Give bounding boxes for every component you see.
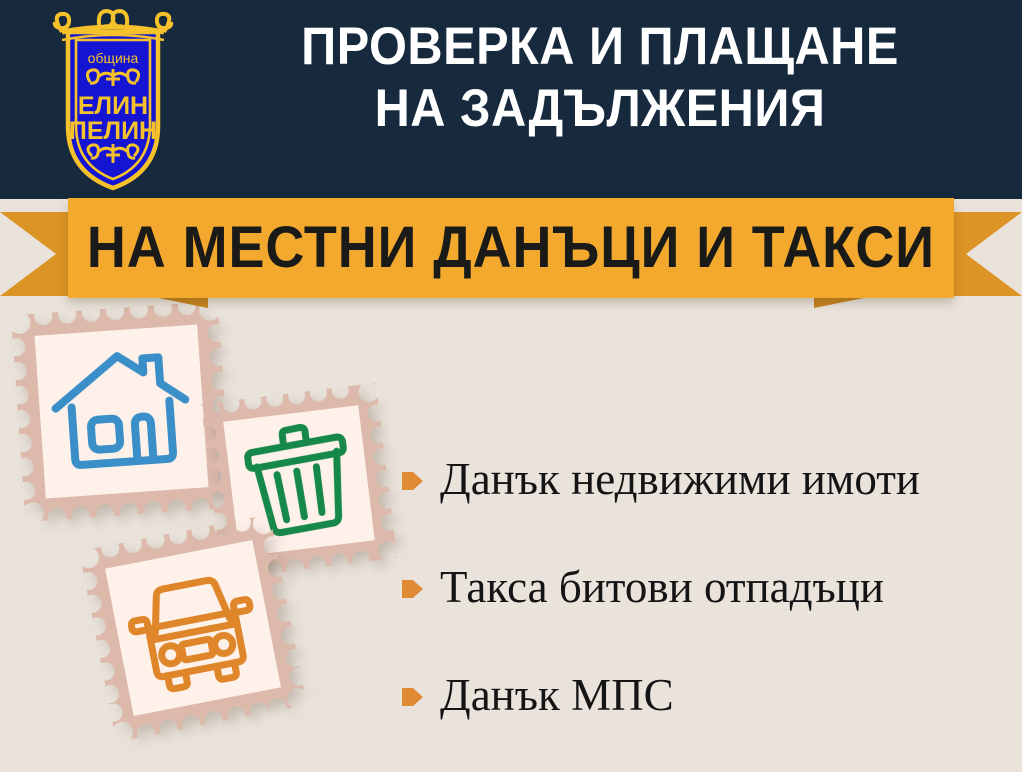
list-item[interactable]: Такса битови отпадъци (402, 533, 1017, 641)
list-item-label: Данък недвижими имоти (440, 454, 920, 504)
list-item[interactable]: Данък недвижими имоти (402, 425, 1017, 533)
svg-text:община: община (88, 50, 139, 66)
ribbon-label: НА МЕСТНИ ДАНЪЦИ И ТАКСИ (87, 218, 935, 278)
stamp-vehicle-tax (76, 511, 310, 745)
subtitle-ribbon: НА МЕСТНИ ДАНЪЦИ И ТАКСИ (0, 198, 1022, 308)
list-item[interactable]: Данък МПС (402, 641, 1017, 749)
svg-text:ЕЛИН: ЕЛИН (78, 92, 148, 120)
poster-title-line-1: ПРОВЕРКА И ПЛАЩАНЕ (223, 16, 977, 78)
poster-title-block: ПРОВЕРКА И ПЛАЩАНЕ НА ЗАДЪЛЖЕНИЯ (190, 16, 1010, 140)
stamp-illustrations (0, 300, 420, 772)
municipality-logo: община ЕЛИН ПЕЛИН (38, 6, 188, 192)
arrow-bullet-icon (402, 469, 424, 493)
list-item-label: Такса битови отпадъци (440, 562, 884, 612)
poster-title-line-2: НА ЗАДЪЛЖЕНИЯ (223, 78, 977, 140)
poster-canvas: община ЕЛИН ПЕЛИН (0, 0, 1022, 772)
coat-of-arms-icon: община ЕЛИН ПЕЛИН (38, 6, 188, 192)
svg-text:ПЕЛИН: ПЕЛИН (69, 117, 157, 145)
list-item-label: Данък МПС (440, 670, 674, 720)
ribbon-band: НА МЕСТНИ ДАНЪЦИ И ТАКСИ (68, 198, 954, 298)
tax-types-list: Данък недвижими имоти Такса битови отпад… (402, 425, 1017, 749)
arrow-bullet-icon (402, 577, 424, 601)
arrow-bullet-icon (402, 685, 424, 709)
poster-header: община ЕЛИН ПЕЛИН (0, 0, 1022, 199)
